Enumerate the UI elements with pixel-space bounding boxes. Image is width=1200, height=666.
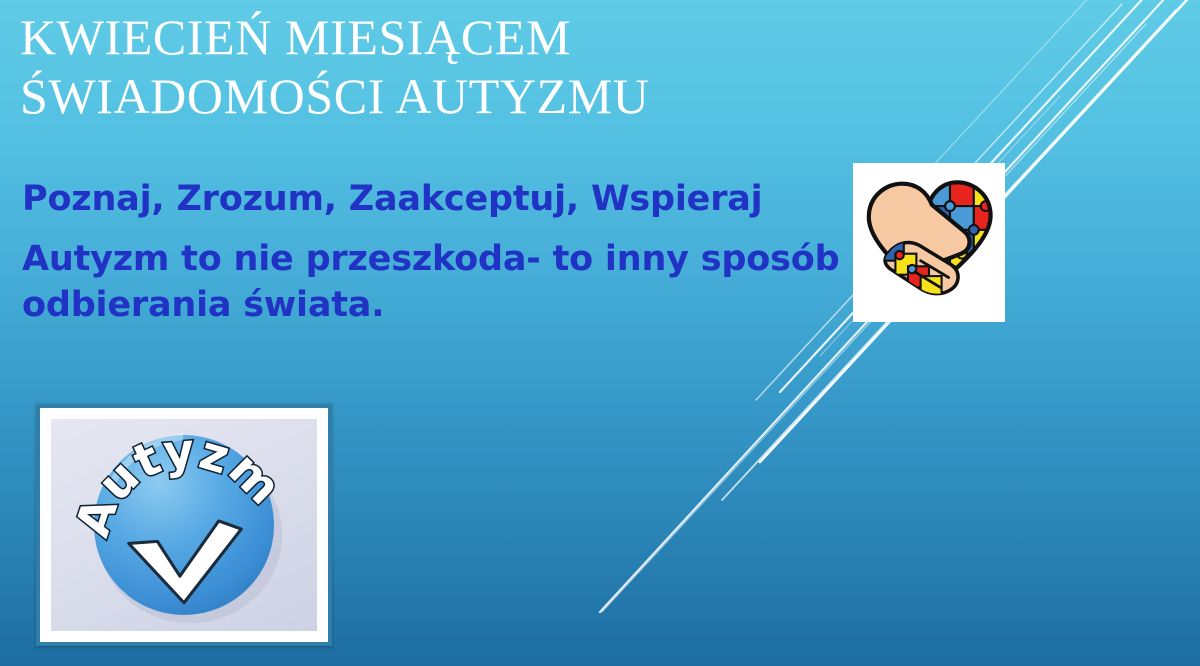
tagline-text: Poznaj, Zrozum, Zaakceptuj, Wspieraj	[22, 176, 852, 222]
slide-canvas: Kwiecień miesiącem świadomości autyzmu P…	[0, 0, 1200, 666]
badge-photo-surface: Autyzm	[51, 419, 317, 631]
statement-text: Autyzm to nie przeszkoda- to inny sposób…	[22, 236, 852, 328]
handshake-heart-image	[853, 163, 1005, 322]
autyzm-badge-image: Autyzm	[36, 404, 332, 646]
slide-body: Poznaj, Zrozum, Zaakceptuj, Wspieraj Aut…	[22, 176, 852, 329]
badge-photo-mat: Autyzm	[40, 408, 328, 642]
slide-title: Kwiecień miesiącem świadomości autyzmu	[20, 8, 850, 125]
